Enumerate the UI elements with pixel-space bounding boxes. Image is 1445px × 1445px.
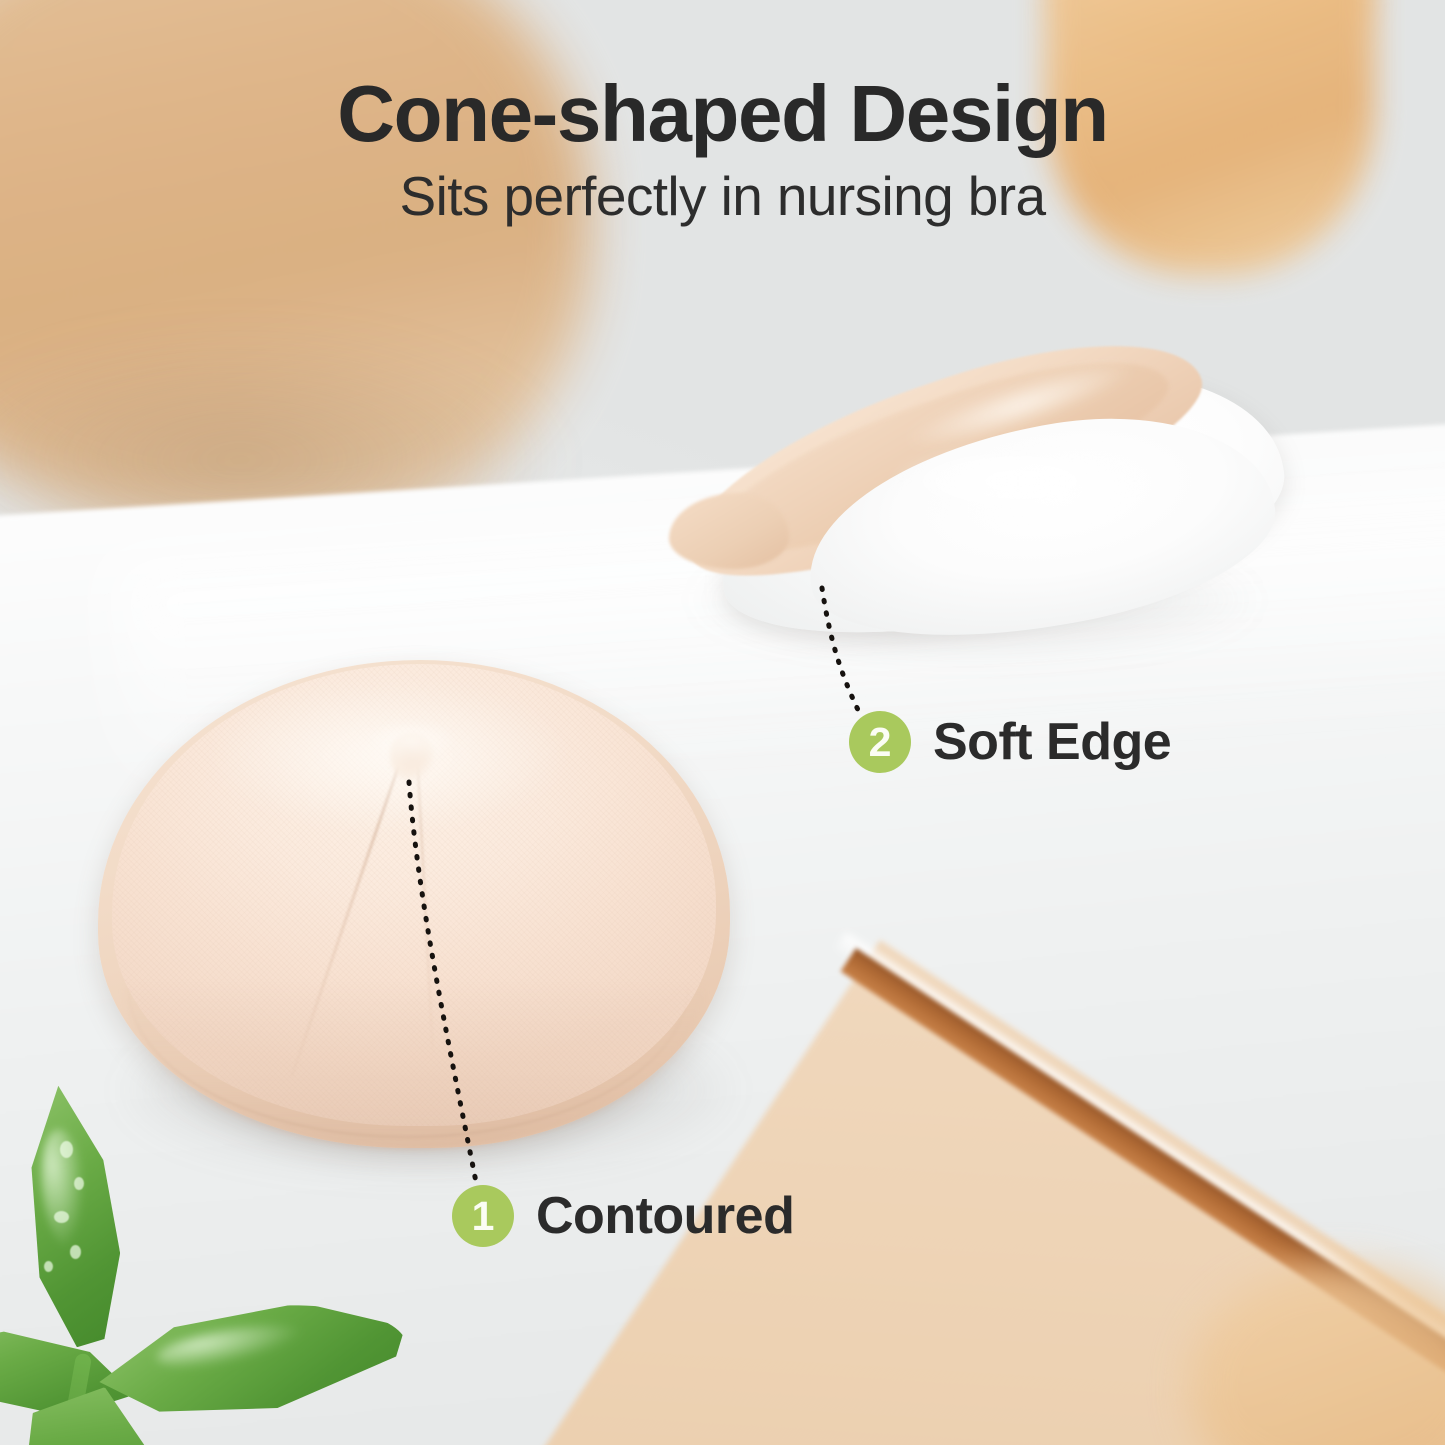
- water-droplet: [54, 1211, 69, 1223]
- water-droplet: [70, 1245, 81, 1259]
- nursing-pad-side-view: [655, 365, 1315, 635]
- bamboo-leaf-right: [93, 1289, 414, 1434]
- side-pad-highlight: [893, 445, 1143, 517]
- callout-badge-1: 1: [452, 1185, 514, 1247]
- nursing-pad-front-view: [98, 650, 738, 1155]
- water-droplet: [44, 1261, 53, 1272]
- callout-label-contoured: Contoured: [536, 1186, 794, 1246]
- callout-contoured[interactable]: 1 Contoured: [452, 1185, 794, 1247]
- water-droplet: [74, 1177, 84, 1190]
- page-subtitle: Sits perfectly in nursing bra: [0, 166, 1445, 227]
- infographic-canvas: Cone-shaped Design Sits perfectly in nur…: [0, 0, 1445, 1445]
- front-pad-top-highlight: [208, 680, 568, 830]
- callout-badge-2: 2: [849, 711, 911, 773]
- heading-block: Cone-shaped Design Sits perfectly in nur…: [0, 72, 1445, 227]
- callout-label-soft-edge: Soft Edge: [933, 712, 1171, 772]
- water-droplet: [60, 1141, 73, 1158]
- side-pad-tip: [669, 493, 789, 569]
- page-title: Cone-shaped Design: [0, 72, 1445, 156]
- bamboo-leaves: [0, 1085, 440, 1445]
- callout-soft-edge[interactable]: 2 Soft Edge: [849, 711, 1171, 773]
